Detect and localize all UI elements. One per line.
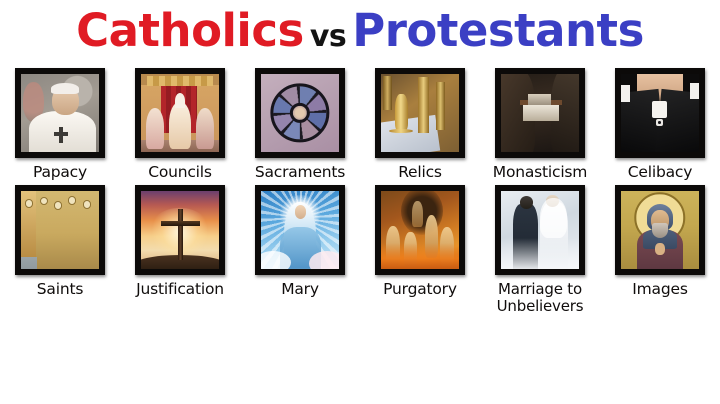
- councils-image: [141, 74, 219, 152]
- art-part: [528, 94, 551, 105]
- tile-monasticism[interactable]: Monasticism: [480, 68, 600, 181]
- tile-label: Marriage to Unbelievers: [497, 281, 584, 315]
- art-part: [523, 104, 559, 121]
- art-part: [621, 85, 630, 102]
- thumbnail-frame: [255, 185, 345, 275]
- tile-purgatory[interactable]: Purgatory: [360, 185, 480, 298]
- art-part: [395, 94, 407, 130]
- art-part: [146, 108, 165, 149]
- tile-images[interactable]: Images: [600, 185, 720, 298]
- monasticism-image: [501, 74, 579, 152]
- thumbnail-frame: [255, 68, 345, 158]
- art-part: [309, 251, 339, 270]
- tile-celibacy[interactable]: Celibacy: [600, 68, 720, 181]
- art-part: [68, 196, 77, 205]
- marriage-image: [501, 191, 579, 269]
- thumbnail-frame: [615, 185, 705, 275]
- grid-row-1: PapacyCouncilsSacramentsRelicsMonasticis…: [0, 68, 720, 181]
- art-part: [83, 200, 92, 209]
- art-part: [161, 221, 200, 226]
- tile-label: Monasticism: [493, 164, 587, 181]
- art-part: [540, 198, 567, 239]
- title-versus: vs: [304, 19, 352, 54]
- tile-label: Relics: [398, 164, 442, 181]
- tile-label: Sacraments: [255, 164, 345, 181]
- thumbnail-frame: [495, 68, 585, 158]
- purgatory-image: [381, 191, 459, 269]
- tile-sacraments[interactable]: Sacraments: [240, 68, 360, 181]
- art-part: [652, 223, 668, 239]
- art-part: [412, 201, 423, 228]
- art-part: [178, 209, 183, 260]
- tile-label: Images: [632, 281, 687, 298]
- art-part: [40, 197, 49, 206]
- thumbnail-frame: [15, 68, 105, 158]
- art-part: [54, 201, 63, 210]
- tile-councils[interactable]: Councils: [120, 68, 240, 181]
- thumbnail-frame: [615, 68, 705, 158]
- tile-saints[interactable]: Saints: [0, 185, 120, 298]
- art-part: [21, 257, 37, 269]
- art-part: [520, 196, 533, 208]
- thumbnail-frame: [375, 68, 465, 158]
- relics-image: [381, 74, 459, 152]
- images-image: [621, 191, 699, 269]
- tile-label: Mary: [281, 281, 319, 298]
- tile-label: Papacy: [33, 164, 87, 181]
- art-part: [295, 205, 307, 218]
- art-part: [381, 115, 441, 152]
- tile-label: Saints: [37, 281, 83, 298]
- art-part: [147, 76, 213, 87]
- tile-label: Celibacy: [628, 164, 692, 181]
- art-part: [51, 83, 79, 94]
- thumbnail-frame: [135, 185, 225, 275]
- art-part: [436, 82, 445, 130]
- sacraments-image: [261, 74, 339, 152]
- tile-relics[interactable]: Relics: [360, 68, 480, 181]
- celibacy-image: [621, 74, 699, 152]
- grid-row-2: SaintsJustificationMaryPurgatoryMarriage…: [0, 185, 720, 315]
- thumbnail-frame: [135, 68, 225, 158]
- tile-label: Purgatory: [383, 281, 457, 298]
- page-title: CatholicsvsProtestants: [0, 0, 720, 66]
- tile-label: Councils: [148, 164, 212, 181]
- tile-marriage-to-unbelievers[interactable]: Marriage to Unbelievers: [480, 185, 600, 315]
- art-part: [196, 108, 215, 149]
- saints-image: [21, 191, 99, 269]
- thumbnail-frame: [375, 185, 465, 275]
- papacy-image: [21, 74, 99, 152]
- mary-image: [261, 191, 339, 269]
- tile-papacy[interactable]: Papacy: [0, 68, 120, 181]
- thumbnail-frame: [495, 185, 585, 275]
- art-part: [175, 93, 185, 109]
- art-part: [169, 102, 191, 149]
- art-part: [652, 101, 667, 118]
- art-part: [418, 77, 429, 133]
- comparison-grid: PapacyCouncilsSacramentsRelicsMonasticis…: [0, 68, 720, 315]
- art-part: [501, 238, 579, 269]
- title-protestants: Protestants: [352, 4, 644, 57]
- thumbnail-frame: [15, 185, 105, 275]
- title-catholics: Catholics: [76, 4, 304, 57]
- tile-label: Justification: [136, 281, 224, 298]
- art-part: [383, 76, 392, 110]
- tile-justification[interactable]: Justification: [120, 185, 240, 298]
- tile-mary[interactable]: Mary: [240, 185, 360, 298]
- art-part: [59, 127, 63, 143]
- justification-image: [141, 191, 219, 269]
- art-part: [381, 243, 459, 270]
- art-part: [656, 119, 663, 126]
- art-part: [690, 83, 699, 99]
